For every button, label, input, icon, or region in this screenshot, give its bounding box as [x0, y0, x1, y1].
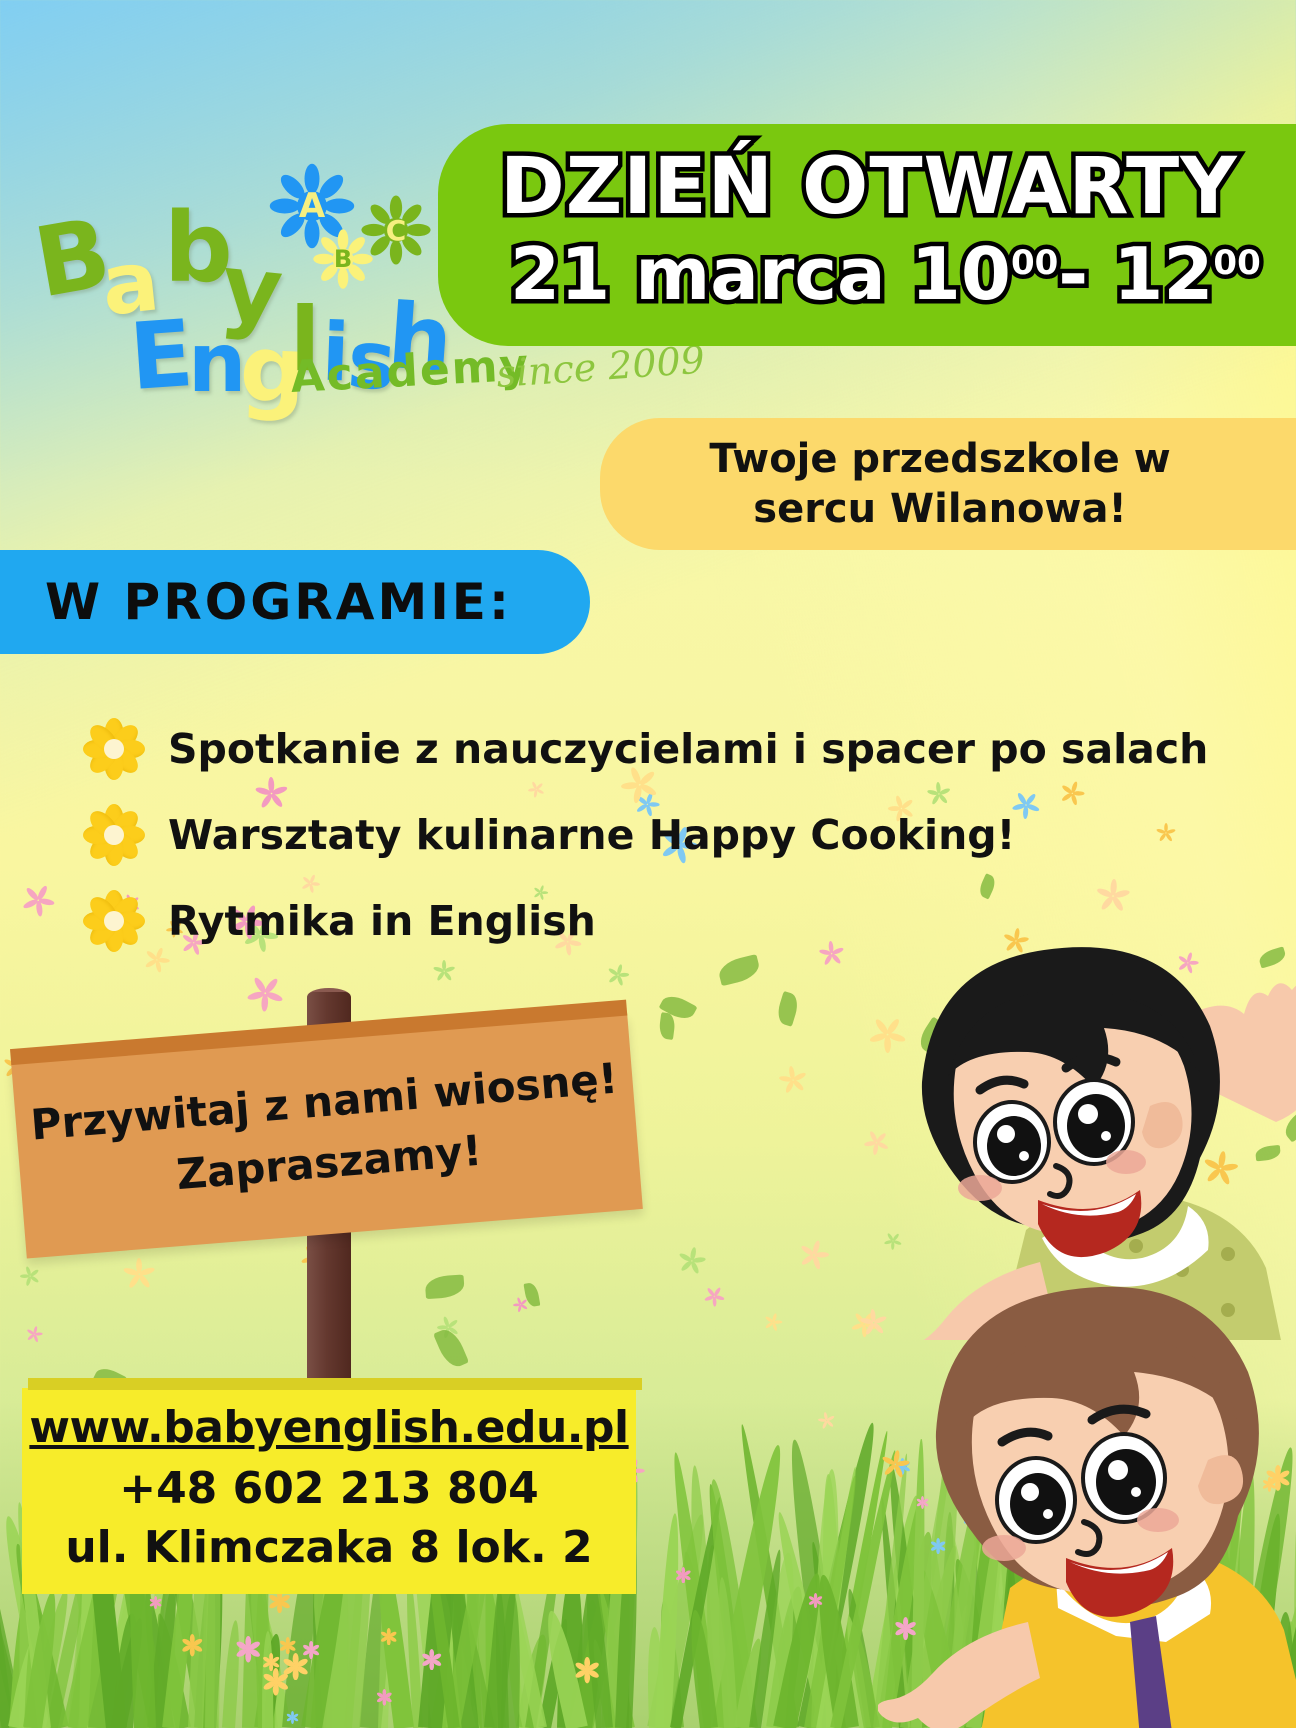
tagline-box: Twoje przedszkole w sercu Wilanowa! — [600, 418, 1296, 550]
open-day-time-to-minutes: 00 — [1213, 243, 1260, 283]
program-list-item-label: Warsztaty kulinarne Happy Cooking! — [168, 811, 1015, 859]
website-link[interactable]: www.babyenglish.edu.pl — [22, 1388, 636, 1453]
child-illustration-brown-hair — [878, 1170, 1296, 1728]
open-day-datetime: 21 marca 1000- 1200 — [510, 232, 1261, 316]
program-heading-text: W PROGRAMIE: — [45, 573, 512, 631]
open-day-time-to: 12 — [1113, 232, 1213, 316]
wooden-sign-board: Przywitaj z nami wiosnę! Zapraszamy! — [11, 1014, 643, 1259]
open-day-time-from: 10 — [911, 232, 1011, 316]
street-address: ul. Klimczaka 8 lok. 2 — [22, 1514, 636, 1573]
logo-letter-E: E — [126, 300, 196, 411]
program-list-item: Warsztaty kulinarne Happy Cooking! — [82, 792, 1202, 878]
open-day-time-from-minutes: 00 — [1011, 243, 1058, 283]
phone-number[interactable]: +48 602 213 804 — [22, 1453, 636, 1514]
flower-bullet-icon — [82, 717, 146, 781]
tagline-line-1: Twoje przedszkole w — [709, 434, 1170, 484]
sign-text: Przywitaj z nami wiosnę! Zapraszamy! — [14, 1047, 640, 1218]
program-list-item: Spotkanie z nauczycielami i spacer po sa… — [82, 706, 1202, 792]
open-day-title: DZIEŃ OTWARTY — [500, 142, 1238, 232]
program-list-item-label: Rytmika in English — [168, 897, 596, 945]
logo-flower-c-icon: C — [360, 194, 432, 266]
open-day-dash: - — [1058, 232, 1113, 316]
logo-letter-n: n — [188, 316, 246, 411]
open-day-date: 21 marca — [510, 232, 886, 316]
program-list-item-label: Spotkanie z nauczycielami i spacer po sa… — [168, 725, 1208, 773]
tagline-line-2: sercu Wilanowa! — [753, 484, 1126, 534]
program-heading-banner: W PROGRAMIE: — [0, 550, 590, 654]
flower-bullet-icon — [82, 803, 146, 867]
contact-box: www.babyenglish.edu.pl +48 602 213 804 u… — [22, 1388, 636, 1594]
flower-bullet-icon — [82, 889, 146, 953]
